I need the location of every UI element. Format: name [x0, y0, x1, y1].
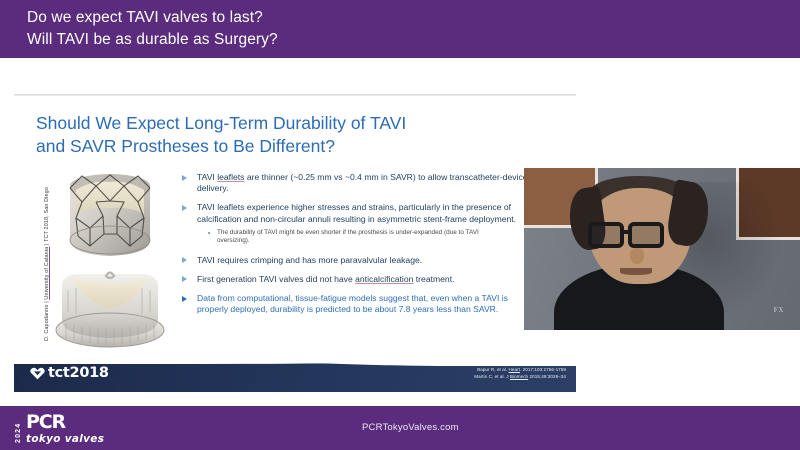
reference-line-1: Bapur R, et al. Heart. 2017;103:1756-175…	[474, 366, 566, 373]
valve-image-group	[48, 168, 170, 356]
underlined-term: anticalcification	[355, 274, 413, 284]
slide-canvas: Should We Expect Long-Term Durability of…	[14, 96, 800, 402]
slide-title: Should We Expect Long-Term Durability of…	[36, 112, 556, 158]
underlined-term: Biomech	[510, 374, 528, 379]
pcr-logo: 2024 PCR tokyo valves	[14, 413, 104, 445]
sub-bullet-item: The durability of TAVI might be even sho…	[208, 229, 508, 246]
triangle-bullet-icon	[182, 175, 187, 181]
pcr-logo-brand: PCR	[26, 413, 104, 432]
sub-bullet-text: The durability of TAVI might be even sho…	[217, 229, 479, 244]
bullet-item-4-text: First generation TAVI valves did not hav…	[197, 274, 454, 284]
bullet-item-3: TAVI requires crimping and has more para…	[182, 255, 528, 266]
underlined-term: Heart	[509, 367, 520, 372]
slide-title-line-1: Should We Expect Long-Term Durability of…	[36, 112, 556, 135]
bullet-item-2: TAVI leaflets experience higher stresses…	[182, 202, 528, 224]
tct-logo: tct2018	[30, 365, 109, 381]
photo-person-nose	[630, 248, 644, 264]
slide-footer-band: tct2018 Bapur R, et al. Heart. 2017;103:…	[14, 358, 576, 392]
bullet-list: TAVI leaflets are thinner (~0.25 mm vs ~…	[182, 172, 528, 323]
savr-surgical-valve-image	[52, 264, 168, 350]
fx-watermark: FX	[774, 306, 784, 314]
triangle-bullet-icon	[182, 257, 187, 263]
presentation-header: Do we expect TAVI valves to last? Will T…	[0, 0, 800, 58]
bullet-item-2-text: TAVI leaflets experience higher stresses…	[197, 202, 516, 223]
reaction-photo: FX	[524, 168, 800, 330]
reference-citations: Bapur R, et al. Heart. 2017;103:1756-175…	[474, 366, 566, 380]
underlined-term: leaflets	[217, 172, 244, 182]
header-question-line-1: Do we expect TAVI valves to last?	[27, 7, 800, 29]
square-bullet-icon	[208, 232, 210, 234]
photo-person-glasses-bridge	[623, 230, 631, 234]
tct-heart-icon	[30, 366, 45, 380]
bullet-item-1: TAVI leaflets are thinner (~0.25 mm vs ~…	[182, 172, 528, 194]
slide-title-line-2: and SAVR Prostheses to Be Different?	[36, 135, 556, 158]
pcr-logo-wordmark: PCR tokyo valves	[26, 413, 104, 445]
pcr-logo-subtitle: tokyo valves	[26, 433, 104, 445]
footer-curve-shape-secondary	[264, 358, 576, 366]
photo-person-mouth	[620, 268, 652, 275]
bullet-item-5: Data from computational, tissue-fatigue …	[182, 293, 528, 315]
pcr-website-url: PCRTokyoValves.com	[362, 422, 459, 433]
bullet-item-4: First generation TAVI valves did not hav…	[182, 274, 528, 285]
pcr-bottom-bar: 2024 PCR tokyo valves PCRTokyoValves.com	[0, 406, 800, 450]
bullet-item-3-text: TAVI requires crimping and has more para…	[197, 255, 422, 265]
tavi-stent-valve-image	[58, 168, 162, 260]
photo-person-glasses-left-lens	[588, 222, 624, 248]
triangle-bullet-icon	[182, 296, 187, 302]
header-question-line-2: Will TAVI be as durable as Surgery?	[27, 29, 800, 51]
reference-line-2: Martin C, et al. J Biomech 2015;48:3026–…	[474, 373, 566, 380]
tct-logo-text: tct2018	[48, 365, 109, 381]
bullet-item-1-text: TAVI leaflets are thinner (~0.25 mm vs ~…	[197, 172, 528, 193]
pcr-logo-year: 2024	[14, 414, 23, 443]
bullet-item-5-text: Data from computational, tissue-fatigue …	[197, 293, 508, 314]
photo-person-glasses-right-lens	[628, 222, 664, 248]
triangle-bullet-icon	[182, 276, 187, 282]
triangle-bullet-icon	[182, 205, 187, 211]
